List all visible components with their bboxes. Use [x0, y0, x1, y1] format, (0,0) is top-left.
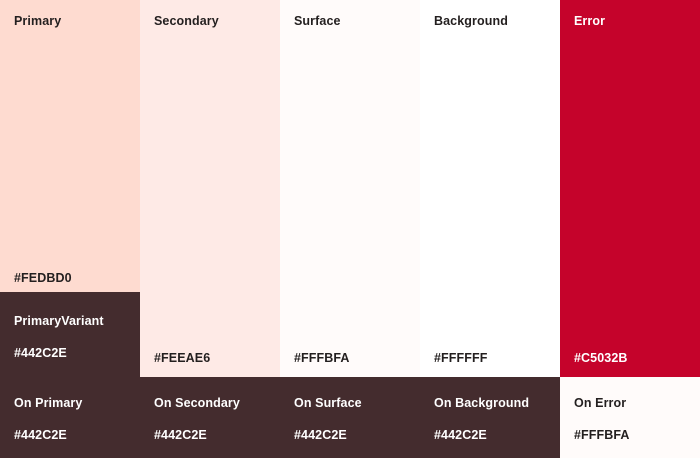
swatch-name-on-surface: On Surface	[294, 396, 362, 410]
palette-column-primary: Primary#FEDBD0PrimaryVariant#442C2EOn Pr…	[0, 0, 140, 458]
color-palette: Primary#FEDBD0PrimaryVariant#442C2EOn Pr…	[0, 0, 700, 458]
swatch-hex-on-background: #442C2E	[434, 428, 487, 442]
swatch-hex-on-primary: #442C2E	[14, 428, 67, 442]
palette-column-surface: Surface#FFFBFAOn Surface#442C2E	[280, 0, 420, 458]
palette-column-error: Error#C5032BOn Error#FFFBFA	[560, 0, 700, 458]
swatch-background[interactable]: Background#FFFFFF	[420, 0, 560, 377]
swatch-secondary[interactable]: Secondary#FEEAE6	[140, 0, 280, 377]
swatch-name-secondary: Secondary	[154, 14, 266, 29]
swatch-hex-secondary: #FEEAE6	[154, 351, 210, 365]
palette-column-secondary: Secondary#FEEAE6On Secondary#442C2E	[140, 0, 280, 458]
palette-column-background: Background#FFFFFFOn Background#442C2E	[420, 0, 560, 458]
swatch-hex-error: #C5032B	[574, 351, 628, 365]
swatch-name-primary: Primary	[14, 14, 126, 29]
swatch-on-primary[interactable]: On Primary#442C2E	[0, 377, 140, 458]
swatch-name-primary-variant: PrimaryVariant	[14, 314, 104, 328]
swatch-hex-surface: #FFFBFA	[294, 351, 350, 365]
swatch-name-on-background: On Background	[434, 396, 529, 410]
swatch-name-surface: Surface	[294, 14, 406, 29]
swatch-error[interactable]: Error#C5032B	[560, 0, 700, 377]
swatch-hex-background: #FFFFFF	[434, 351, 487, 365]
swatch-surface[interactable]: Surface#FFFBFA	[280, 0, 420, 377]
swatch-primary[interactable]: Primary#FEDBD0	[0, 0, 140, 292]
swatch-on-secondary[interactable]: On Secondary#442C2E	[140, 377, 280, 458]
swatch-on-surface[interactable]: On Surface#442C2E	[280, 377, 420, 458]
swatch-hex-primary: #FEDBD0	[14, 271, 72, 285]
swatch-hex-on-secondary: #442C2E	[154, 428, 207, 442]
swatch-hex-on-error: #FFFBFA	[574, 428, 630, 442]
swatch-on-error[interactable]: On Error#FFFBFA	[560, 377, 700, 458]
swatch-name-on-error: On Error	[574, 396, 626, 410]
swatch-name-error: Error	[574, 14, 686, 29]
swatch-name-on-primary: On Primary	[14, 396, 82, 410]
swatch-on-background[interactable]: On Background#442C2E	[420, 377, 560, 458]
swatch-hex-primary-variant: #442C2E	[14, 346, 67, 360]
swatch-hex-on-surface: #442C2E	[294, 428, 347, 442]
swatch-name-background: Background	[434, 14, 546, 29]
swatch-primary-variant[interactable]: PrimaryVariant#442C2E	[0, 292, 140, 377]
swatch-name-on-secondary: On Secondary	[154, 396, 240, 410]
